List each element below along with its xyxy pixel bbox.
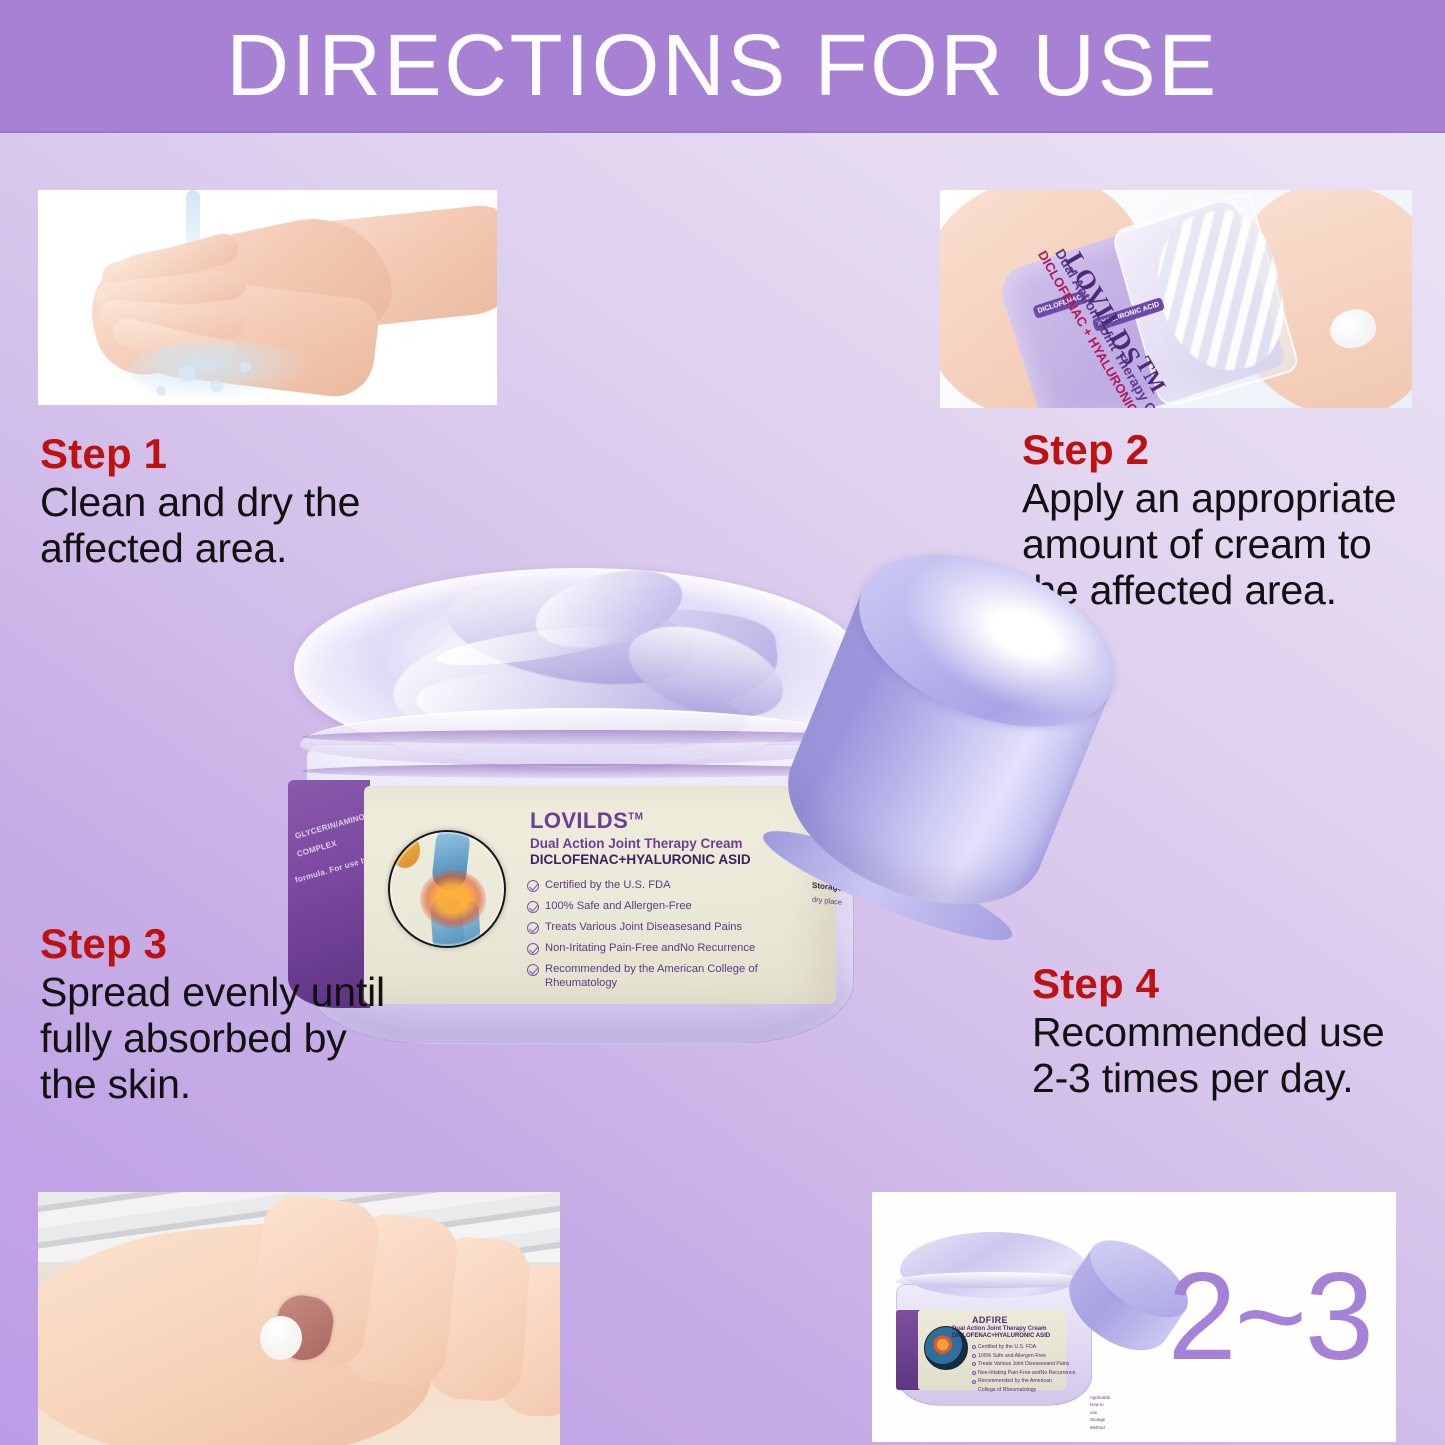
feature-text: Certified by the U.S. FDA — [545, 878, 671, 894]
list-item: Recommended by the American — [972, 1377, 1075, 1386]
step1-text-block: Step 1 Clean and dry the affected area. — [40, 432, 480, 571]
feature-text: Non-Iritating Pain-Free andNo Recurrence — [545, 941, 755, 957]
step4-number: Step 4 — [1032, 962, 1412, 1007]
list-item: Non-Iritating Pain-Free andNo Recurrence — [972, 1369, 1075, 1378]
check-circle-icon — [527, 964, 539, 976]
step3-description: Spread evenly until fully absorbed by th… — [40, 969, 400, 1108]
list-item: Certified by the U.S. FDA — [972, 1343, 1075, 1352]
check-circle-icon — [527, 880, 539, 892]
check-circle-icon — [527, 901, 539, 913]
mini-jar-rim — [896, 1272, 1092, 1288]
list-item: Non-Iritating Pain-Free andNo Recurrence — [527, 941, 827, 957]
frequency-indicator: 2~3 — [1168, 1255, 1372, 1379]
feature-text: Treats Various Joint Diseasesand Pains — [545, 920, 742, 936]
illustration-ring — [390, 832, 504, 946]
water-droplet — [210, 380, 223, 392]
step2-number: Step 2 — [1022, 428, 1422, 473]
trademark-symbol: TM — [628, 812, 643, 823]
page-title: DIRECTIONS FOR USE — [226, 22, 1218, 109]
step4-description: Recommended use 2-3 times per day. — [1032, 1009, 1412, 1102]
check-circle-icon — [972, 1380, 976, 1384]
step3-number: Step 3 — [40, 922, 400, 967]
feature-text: 100% Safe and Allergen-Free — [545, 899, 692, 915]
brand-text: LOVILDS — [530, 808, 628, 833]
step1-number: Step 1 — [40, 432, 480, 477]
check-circle-icon — [972, 1345, 976, 1349]
step4-photo: ADFIRE Dual Action Joint Therapy Cream D… — [872, 1192, 1396, 1442]
header-band: DIRECTIONS FOR USE — [0, 0, 1445, 133]
list-item: 100% Safe and Allergen-Free — [972, 1352, 1075, 1361]
check-circle-icon — [972, 1371, 976, 1375]
handwashing-scene — [38, 190, 497, 405]
mini-label-purple-panel — [896, 1310, 920, 1390]
list-item: Recommended by the American College of R… — [527, 962, 777, 991]
step2-photo: HYALURONIC ACID DICLOFENAC DICLOFENAC + … — [940, 190, 1412, 408]
ingredient-text: formula. For use by — [294, 854, 370, 884]
mini-side-text: Applicable How to use Storage Method — [1090, 1394, 1110, 1442]
list-item: College of Rheumatology — [972, 1386, 1075, 1395]
water-droplet — [240, 362, 251, 372]
mini-jar-gel — [900, 1232, 1088, 1298]
mini-brand: ADFIRE — [972, 1315, 1008, 1325]
check-circle-icon — [972, 1354, 976, 1358]
product-subtitle-2: DICLOFENAC+HYALURONIC ASID — [530, 852, 751, 867]
ingredient-text: COMPLEX — [296, 839, 338, 859]
step3-text-block: Step 3 Spread evenly until fully absorbe… — [40, 922, 400, 1108]
list-item: Treats Various Joint Diseasesand Pains — [972, 1360, 1075, 1369]
knee-joint-illustration — [388, 830, 506, 948]
step3-photo — [38, 1192, 560, 1445]
mini-bullet-list: Certified by the U.S. FDA 100% Safe and … — [972, 1343, 1075, 1394]
water-droplet — [156, 386, 166, 396]
mini-subtitle-2: DICLOFENAC+HYALURONIC ASID — [952, 1333, 1050, 1339]
step2-description: Apply an appropriate amount of cream to … — [1022, 475, 1422, 614]
feature-text: Recommended by the American College of R… — [545, 962, 777, 991]
check-circle-icon — [527, 943, 539, 955]
step2-text-block: Step 2 Apply an appropriate amount of cr… — [1022, 428, 1422, 614]
step1-photo — [38, 190, 497, 405]
water-droplet — [178, 366, 196, 382]
jar-rim-band-lower — [302, 764, 858, 778]
ingredient-text: GLYCERIN/AMINOSUGAR — [294, 804, 370, 841]
jar-rim-band-upper — [302, 730, 858, 744]
check-circle-icon — [527, 922, 539, 934]
mini-subtitle-1: Dual Action Joint Therapy Cream — [952, 1326, 1046, 1332]
step1-description: Clean and dry the affected area. — [40, 479, 480, 572]
step4-text-block: Step 4 Recommended use 2-3 times per day… — [1032, 962, 1412, 1101]
mini-product-jar: ADFIRE Dual Action Joint Therapy Cream D… — [896, 1228, 1136, 1408]
check-circle-icon — [972, 1362, 976, 1366]
product-brand: LOVILDSTM — [530, 808, 643, 834]
product-subtitle-1: Dual Action Joint Therapy Cream — [530, 836, 743, 851]
